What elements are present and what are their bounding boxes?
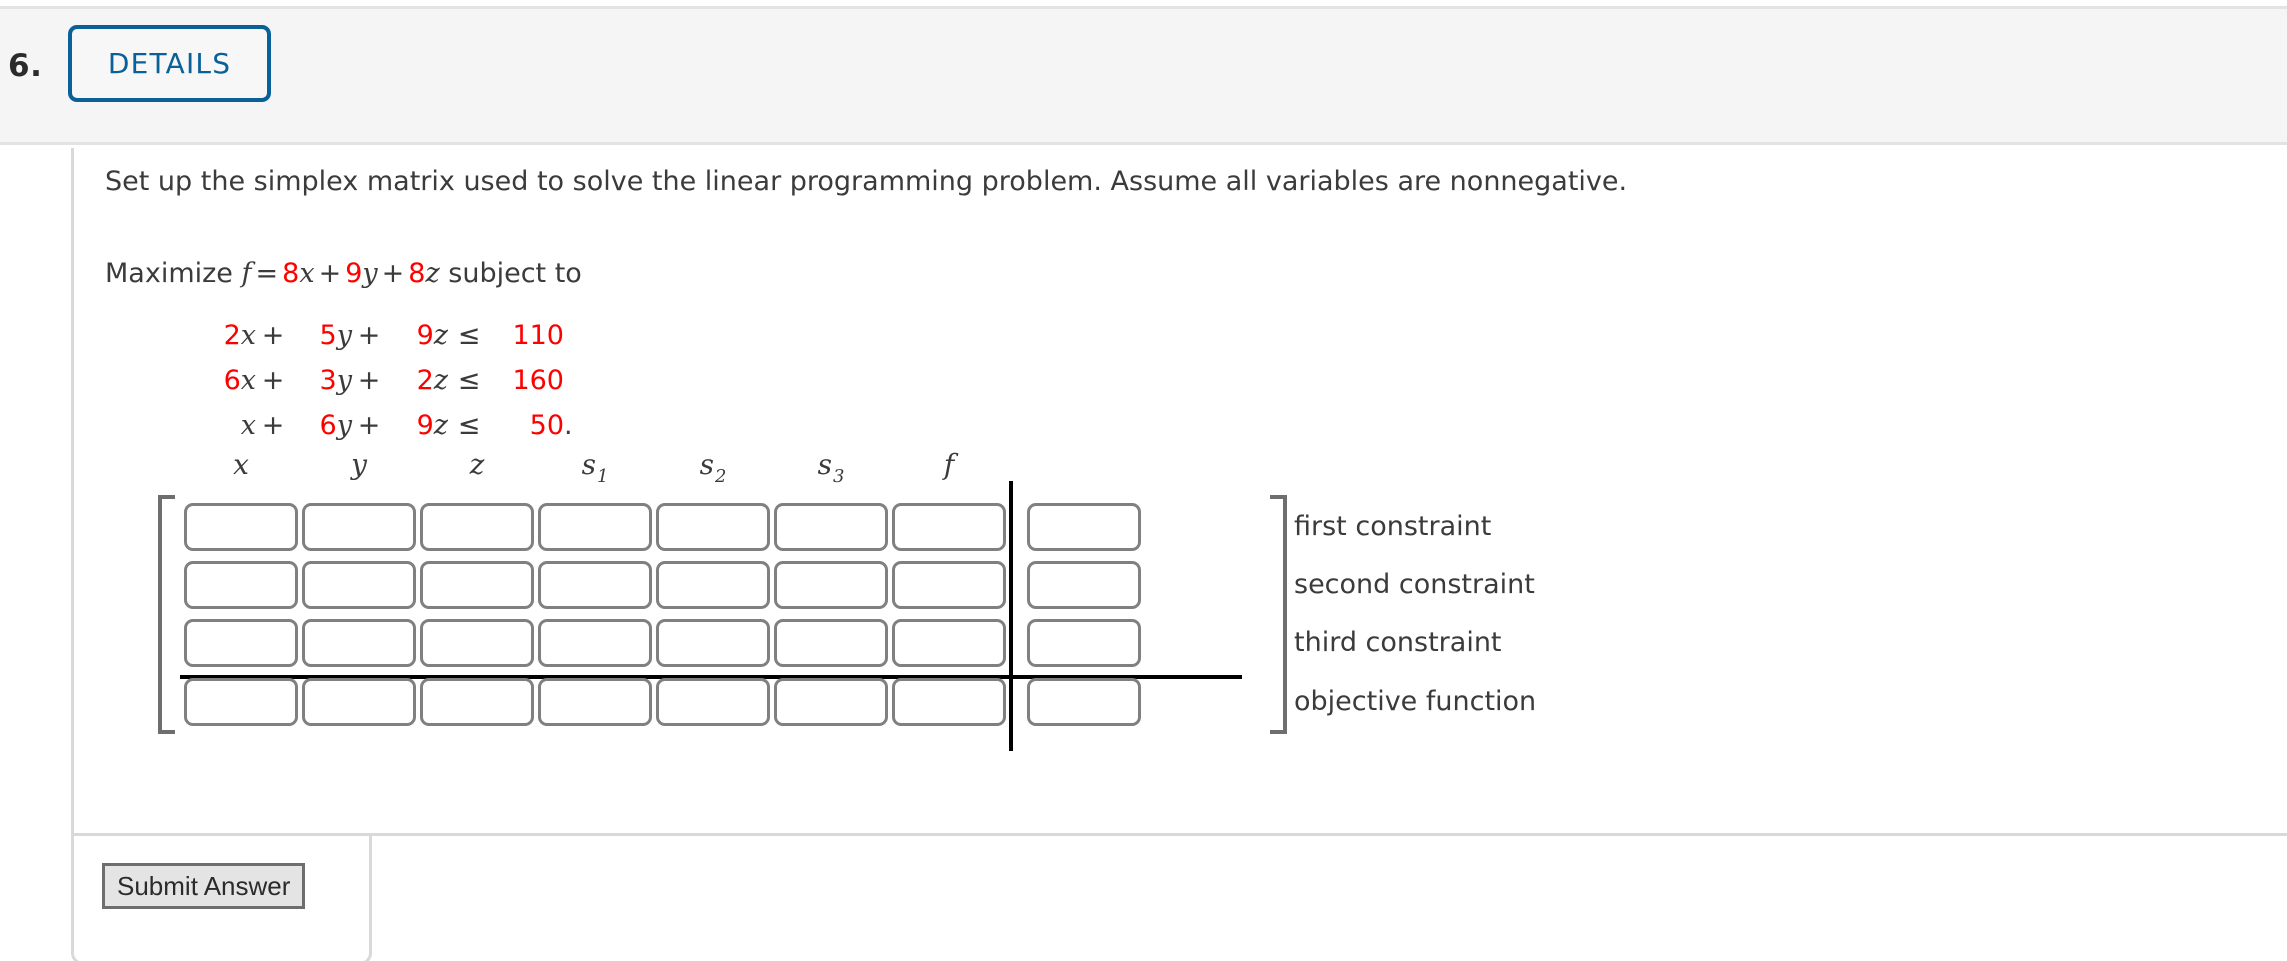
matrix-column-header-x: x — [181, 448, 301, 481]
constraint-variable-z: z — [434, 320, 448, 351]
constraint-operator-2: + — [352, 320, 386, 351]
matrix-cell-input[interactable] — [420, 503, 534, 551]
constraints-block: 2x+5y+9z≤1106x+3y+2z≤160x+6y+9z≤50. — [194, 320, 582, 455]
header-subscript: 2 — [714, 466, 726, 487]
matrix-cell-input[interactable] — [538, 503, 652, 551]
constraint-term-3: 9z — [386, 410, 448, 441]
matrix-cell-input[interactable] — [656, 503, 770, 551]
constraint-relation: ≤ — [448, 365, 490, 396]
matrix-row-label: first constraint — [1294, 511, 1491, 542]
subject-to-text: subject to — [448, 258, 582, 289]
matrix-row — [184, 619, 1254, 667]
constraint-coefficient-1: 2 — [224, 320, 241, 351]
matrix-cell-input[interactable] — [184, 678, 298, 726]
constraint-relation: ≤ — [448, 320, 490, 351]
constraint-relation: ≤ — [448, 410, 490, 441]
objective-function-line: Maximize f=8x+9y+8z subject to — [105, 258, 582, 289]
question-header-band — [0, 6, 2287, 145]
matrix-row — [184, 678, 1254, 726]
constraint-rhs: 110 — [490, 320, 564, 351]
header-base: x — [233, 448, 249, 481]
constraint-row: 6x+3y+2z≤160 — [194, 365, 582, 410]
matrix-cell-input[interactable] — [656, 561, 770, 609]
objective-variable-f: f — [242, 258, 252, 289]
question-page: 6. DETAILS Set up the simplex matrix use… — [0, 0, 2287, 961]
header-base: s — [818, 448, 832, 481]
matrix-cell-input[interactable] — [892, 503, 1006, 551]
matrix-column-header-y: y — [299, 448, 419, 481]
objective-variable-y: y — [362, 258, 377, 289]
constraint-operator-1: + — [256, 410, 290, 441]
objective-variable-x: x — [299, 258, 314, 289]
matrix-cell-input[interactable] — [538, 561, 652, 609]
objective-coefficient-1: 8 — [282, 258, 299, 289]
question-number: 6. — [8, 48, 42, 84]
matrix-column-header-s2: s2 — [653, 448, 773, 487]
matrix-row-label: second constraint — [1294, 569, 1535, 600]
matrix-cell-input[interactable] — [420, 678, 534, 726]
header-base: z — [470, 448, 485, 481]
matrix-cell-input[interactable] — [774, 503, 888, 551]
constraint-operator-1: + — [256, 320, 290, 351]
constraint-period: . — [564, 410, 582, 441]
constraint-coefficient-2: 5 — [320, 320, 337, 351]
objective-coefficient-2: 9 — [345, 258, 362, 289]
matrix-left-bracket — [158, 495, 175, 734]
constraint-variable-x: x — [241, 320, 256, 351]
constraint-rhs: 160 — [490, 365, 564, 396]
constraint-coefficient-1: 6 — [224, 365, 241, 396]
objective-plus-2: + — [378, 258, 409, 289]
matrix-augmented-cell-input[interactable] — [1027, 503, 1141, 551]
matrix-cell-input[interactable] — [538, 619, 652, 667]
matrix-cell-input[interactable] — [656, 619, 770, 667]
constraint-row: 2x+5y+9z≤110 — [194, 320, 582, 365]
constraint-coefficient-2: 6 — [320, 410, 337, 441]
matrix-cell-input[interactable] — [302, 561, 416, 609]
matrix-cell-input[interactable] — [302, 619, 416, 667]
constraint-coefficient-2: 3 — [320, 365, 337, 396]
matrix-row — [184, 503, 1254, 551]
constraint-term-2: 3y — [290, 365, 352, 396]
header-subscript: 1 — [596, 466, 608, 487]
maximize-word: Maximize — [105, 258, 233, 289]
constraint-variable-z: z — [434, 365, 448, 396]
constraint-variable-x: x — [241, 365, 256, 396]
matrix-cell-input[interactable] — [184, 619, 298, 667]
header-base: f — [944, 448, 954, 481]
matrix-cell-input[interactable] — [184, 503, 298, 551]
matrix-cell-input[interactable] — [302, 678, 416, 726]
problem-prompt: Set up the simplex matrix used to solve … — [105, 166, 1627, 197]
submit-answer-button[interactable]: Submit Answer — [102, 863, 305, 909]
constraint-term-2: 6y — [290, 410, 352, 441]
constraint-variable-x: x — [241, 410, 256, 441]
matrix-cell-input[interactable] — [656, 678, 770, 726]
matrix-column-header-z: z — [417, 448, 537, 481]
constraint-term-1: x — [194, 410, 256, 441]
matrix-cell-input[interactable] — [774, 619, 888, 667]
question-content: Set up the simplex matrix used to solve … — [71, 148, 2287, 848]
objective-coefficient-3: 8 — [408, 258, 425, 289]
matrix-cell-input[interactable] — [184, 561, 298, 609]
footer-divider — [372, 833, 2287, 836]
matrix-augmented-cell-input[interactable] — [1027, 619, 1141, 667]
constraint-variable-y: y — [337, 320, 352, 351]
header-base: y — [351, 448, 367, 481]
constraint-operator-2: + — [352, 365, 386, 396]
objective-variable-z: z — [425, 258, 439, 289]
matrix-cell-input[interactable] — [302, 503, 416, 551]
matrix-column-header-f: f — [889, 448, 1009, 481]
matrix-right-bracket — [1270, 495, 1287, 734]
matrix-cell-input[interactable] — [420, 561, 534, 609]
constraint-rhs: 50 — [490, 410, 564, 441]
matrix-cell-input[interactable] — [538, 678, 652, 726]
constraint-term-3: 9z — [386, 320, 448, 351]
matrix-cell-input[interactable] — [892, 561, 1006, 609]
matrix-augmented-cell-input[interactable] — [1027, 561, 1141, 609]
header-subscript: 3 — [832, 466, 844, 487]
constraint-coefficient-3: 2 — [417, 365, 434, 396]
header-base: s — [582, 448, 596, 481]
constraint-variable-z: z — [434, 410, 448, 441]
matrix-grid — [184, 503, 1254, 726]
matrix-row-label: third constraint — [1294, 627, 1502, 658]
constraint-term-1: 2x — [194, 320, 256, 351]
matrix-cell-input[interactable] — [774, 678, 888, 726]
matrix-cell-input[interactable] — [892, 619, 1006, 667]
header-base: s — [700, 448, 714, 481]
constraint-coefficient-3: 9 — [417, 410, 434, 441]
constraint-operator-2: + — [352, 410, 386, 441]
details-button[interactable]: DETAILS — [68, 25, 271, 102]
matrix-cell-input[interactable] — [774, 561, 888, 609]
matrix-augmented-cell-input[interactable] — [1027, 678, 1141, 726]
matrix-column-header-s1: s1 — [535, 448, 655, 487]
constraint-operator-1: + — [256, 365, 290, 396]
constraint-term-1: 6x — [194, 365, 256, 396]
constraint-coefficient-3: 9 — [417, 320, 434, 351]
matrix-column-header-s3: s3 — [771, 448, 891, 487]
constraint-variable-y: y — [337, 365, 352, 396]
objective-plus-1: + — [315, 258, 346, 289]
constraint-term-3: 2z — [386, 365, 448, 396]
matrix-cell-input[interactable] — [892, 678, 1006, 726]
constraint-variable-y: y — [337, 410, 352, 441]
matrix-row — [184, 561, 1254, 609]
matrix-cell-input[interactable] — [420, 619, 534, 667]
constraint-term-2: 5y — [290, 320, 352, 351]
equals-sign: = — [252, 258, 283, 289]
matrix-row-label: objective function — [1294, 686, 1536, 717]
